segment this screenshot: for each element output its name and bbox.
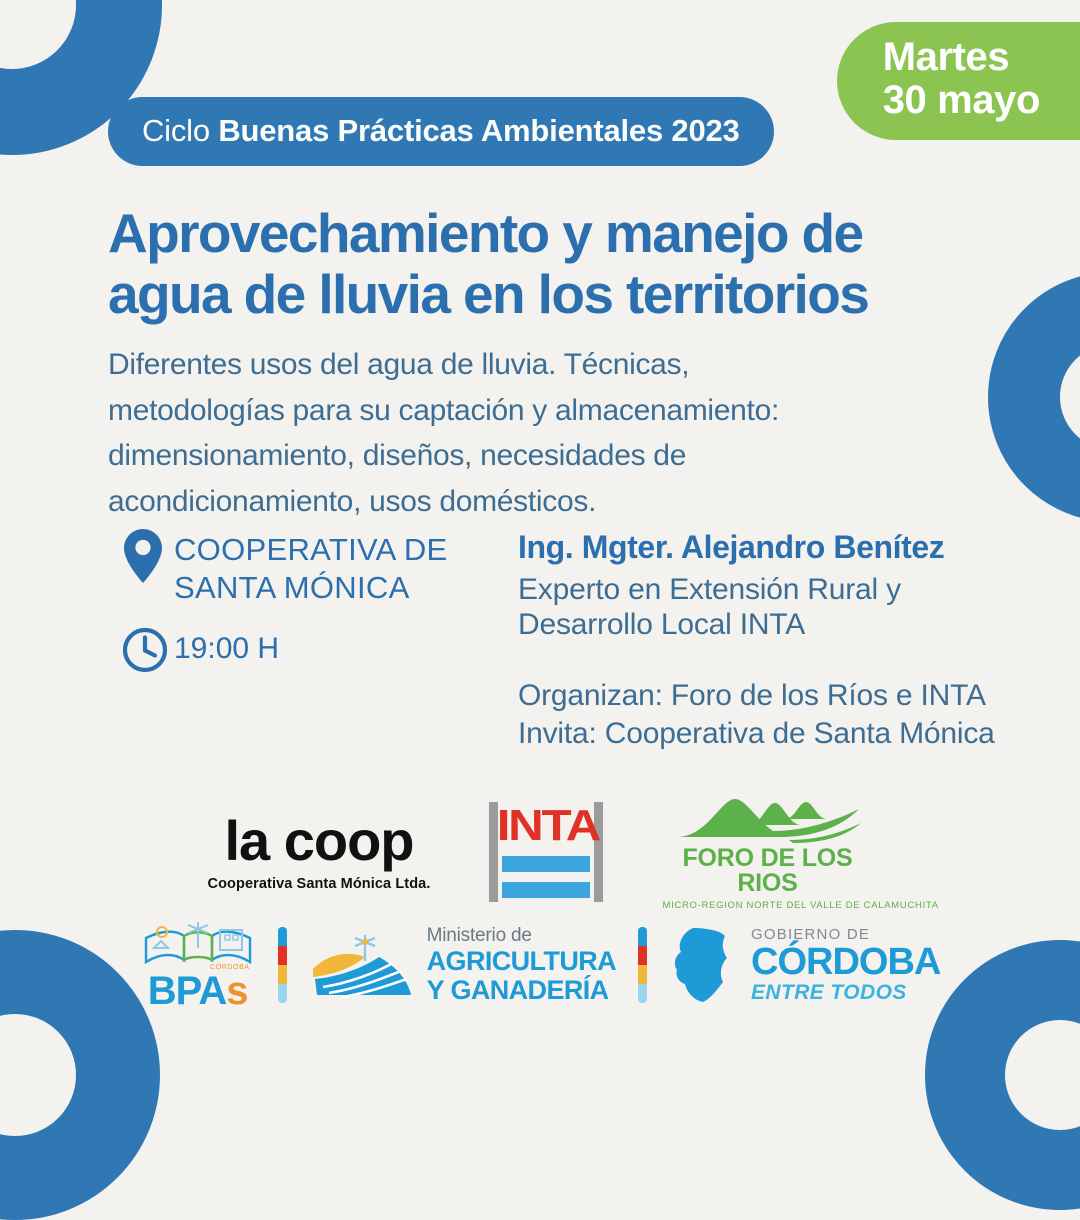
page-title-line-2: agua de lluvia en los territorios	[108, 264, 988, 325]
logo-cordoba-line-2: CÓRDOBA	[751, 943, 940, 981]
poster: Martes 30 mayo Ciclo Buenas Prácticas Am…	[0, 0, 1080, 1080]
location-line-1: COOPERATIVA DE	[174, 531, 448, 569]
date-badge-day-month: 30 mayo	[883, 79, 1040, 122]
logo-agricultura-line-1: Ministerio de	[427, 926, 616, 945]
time-text: 19:00 H	[174, 631, 279, 668]
organizers-block: Organizan: Foro de los Ríos e INTA Invit…	[518, 677, 1078, 753]
logo-inta-stripe-1	[502, 856, 590, 872]
series-badge-title: Buenas Prácticas Ambientales 2023	[218, 113, 739, 148]
date-badge-weekday: Martes	[883, 36, 1040, 79]
time-row: 19:00 H	[122, 627, 522, 673]
logo-bpas-word-accent: s	[226, 969, 247, 1013]
logo-inta-inner: INTA	[502, 802, 590, 902]
map-pin-icon	[122, 528, 174, 584]
speaker-column: Ing. Mgter. Alejandro Benítez Experto en…	[518, 528, 1078, 753]
description-line-2: metodologías para su captación y almacen…	[108, 388, 988, 434]
description-line-4: acondicionamiento, usos domésticos.	[108, 479, 988, 525]
logo-ministerio-agricultura: Ministerio de AGRICULTURA Y GANADERÍA	[309, 926, 616, 1004]
logo-inta-stripe-2	[502, 882, 590, 898]
logo-cordoba-line-1: GOBIERNO DE	[751, 927, 940, 942]
logo-cordoba-text: GOBIERNO DE CÓRDOBA ENTRE TODOS	[751, 927, 940, 1003]
speaker-role-line-1: Experto en Extensión Rural y	[518, 572, 1078, 607]
logo-gobierno-cordoba: GOBIERNO DE CÓRDOBA ENTRE TODOS	[669, 926, 940, 1004]
logo-cordoba-line-3: ENTRE TODOS	[751, 982, 940, 1003]
organizers-line: Organizan: Foro de los Ríos e INTA	[518, 677, 1078, 715]
logo-foro-hills-icon	[669, 793, 865, 843]
logo-foro-name: FORO DE LOS RIOS	[662, 846, 872, 896]
logo-agricultura-field-icon	[309, 929, 417, 1001]
description: Diferentes usos del agua de lluvia. Técn…	[108, 342, 988, 524]
description-line-1: Diferentes usos del agua de lluvia. Técn…	[108, 342, 988, 388]
series-badge-lead: Ciclo	[142, 113, 218, 148]
page-title: Aprovechamiento y manejo de agua de lluv…	[108, 203, 988, 325]
logo-la-coop-subtitle: Cooperativa Santa Mónica Ltda.	[208, 876, 431, 892]
speaker-role: Experto en Extensión Rural y Desarrollo …	[518, 572, 1078, 642]
invited-by-line: Invita: Cooperativa de Santa Mónica	[518, 715, 1078, 753]
speaker-role-line-2: Desarrollo Local INTA	[518, 607, 1078, 642]
logo-bpas-wordmark: BPAs	[140, 971, 256, 1011]
logo-divider-1	[278, 927, 287, 1003]
logo-inta: INTA	[486, 798, 606, 906]
page-title-line-1: Aprovechamiento y manejo de	[108, 203, 988, 264]
logo-foro-de-los-rios: FORO DE LOS RIOS MICRO-REGION NORTE DEL …	[662, 793, 872, 911]
logo-agricultura-text: Ministerio de AGRICULTURA Y GANADERÍA	[427, 926, 616, 1004]
clock-icon	[122, 627, 174, 673]
date-badge: Martes 30 mayo	[837, 22, 1080, 140]
description-line-3: dimensionamiento, diseños, necesidades d…	[108, 433, 988, 479]
logo-row-primary: la coop Cooperativa Santa Mónica Ltda. I…	[0, 793, 1080, 911]
logo-inta-wordmark: INTA	[497, 804, 596, 848]
logo-cordoba-province-icon	[669, 926, 739, 1004]
location-text: COOPERATIVA DE SANTA MÓNICA	[174, 528, 448, 607]
series-badge: Ciclo Buenas Prácticas Ambientales 2023	[108, 97, 774, 166]
venue-column: COOPERATIVA DE SANTA MÓNICA 19:00 H	[122, 528, 522, 693]
logo-agricultura-line-2: AGRICULTURA	[427, 948, 616, 975]
logo-foro-tagline: MICRO-REGION NORTE DEL VALLE DE CALAMUCH…	[662, 900, 872, 911]
logo-row-institutional: BPAs CÓRDOBA Ministerio de AGRICULTURA	[0, 918, 1080, 1011]
location-row: COOPERATIVA DE SANTA MÓNICA	[122, 528, 522, 607]
logo-bpas-province: CÓRDOBA	[210, 964, 250, 971]
logo-la-coop: la coop Cooperativa Santa Mónica Ltda.	[208, 813, 431, 892]
logo-la-coop-wordmark: la coop	[208, 813, 431, 869]
location-line-2: SANTA MÓNICA	[174, 569, 448, 607]
speaker-name: Ing. Mgter. Alejandro Benítez	[518, 528, 1078, 566]
logo-bpas-word-main: BPA	[148, 969, 226, 1013]
time-value: 19:00 H	[174, 631, 279, 668]
logo-divider-2	[638, 927, 647, 1003]
logo-bpas-book-icon	[140, 918, 256, 970]
logo-bpas: BPAs CÓRDOBA	[140, 918, 256, 1011]
logo-agricultura-line-3: Y GANADERÍA	[427, 977, 616, 1004]
